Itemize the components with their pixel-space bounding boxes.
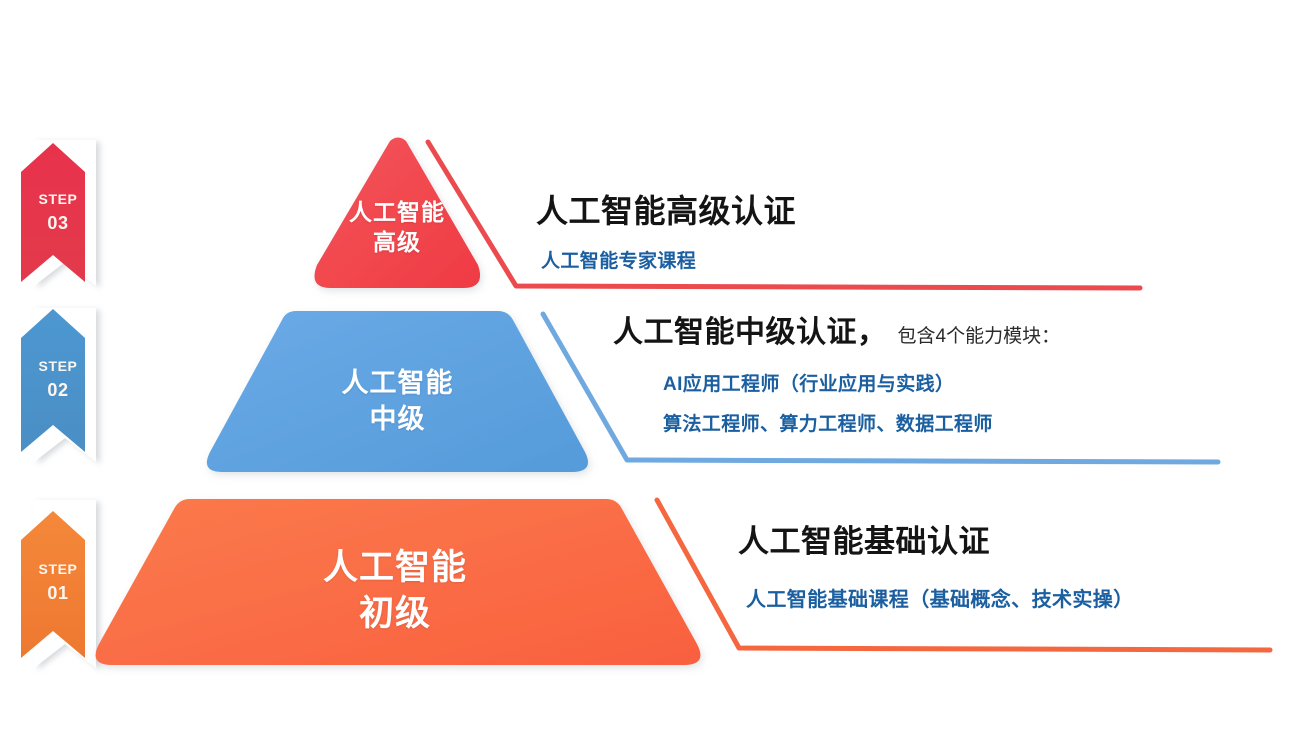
advanced-cert-title: 人工智能高级认证 <box>536 186 796 232</box>
pyramid-tier-advanced[interactable] <box>314 138 480 289</box>
description-block-advanced: 人工智能高级认证 人工智能专家课程 <box>536 186 796 273</box>
description-block-basic: 人工智能基础认证 人工智能基础课程（基础概念、技术实操） <box>738 516 1134 612</box>
advanced-cert-subtitle: 人工智能专家课程 <box>541 246 796 273</box>
intermediate-cert-note: 包含4个能力模块： <box>898 321 1061 351</box>
pyramid-tier-advanced-shape <box>314 138 480 289</box>
intermediate-title-row: 人工智能中级认证， 包含4个能力模块： <box>613 307 1060 351</box>
description-block-intermediate: 人工智能中级认证， 包含4个能力模块： AI应用工程师（行业应用与实践） 算法工… <box>613 307 1060 436</box>
pyramid-tier-basic-shape <box>96 499 701 665</box>
intermediate-module-1: AI应用工程师（行业应用与实践） <box>663 369 1060 396</box>
intermediate-module-2: 算法工程师、算力工程师、数据工程师 <box>663 409 1060 436</box>
intermediate-cert-title: 人工智能中级认证， <box>613 307 888 351</box>
slide-canvas: STEP 03 STEP 02 STEP 01 人工智能 高级 人工智能 中级 … <box>0 0 1302 734</box>
pyramid-tier-intermediate[interactable] <box>207 311 588 472</box>
basic-cert-subtitle: 人工智能基础课程（基础概念、技术实操） <box>746 583 1134 612</box>
pyramid-tier-basic[interactable] <box>96 499 701 665</box>
basic-cert-title: 人工智能基础认证 <box>738 516 1134 561</box>
pyramid-tier-intermediate-shape <box>207 311 588 472</box>
